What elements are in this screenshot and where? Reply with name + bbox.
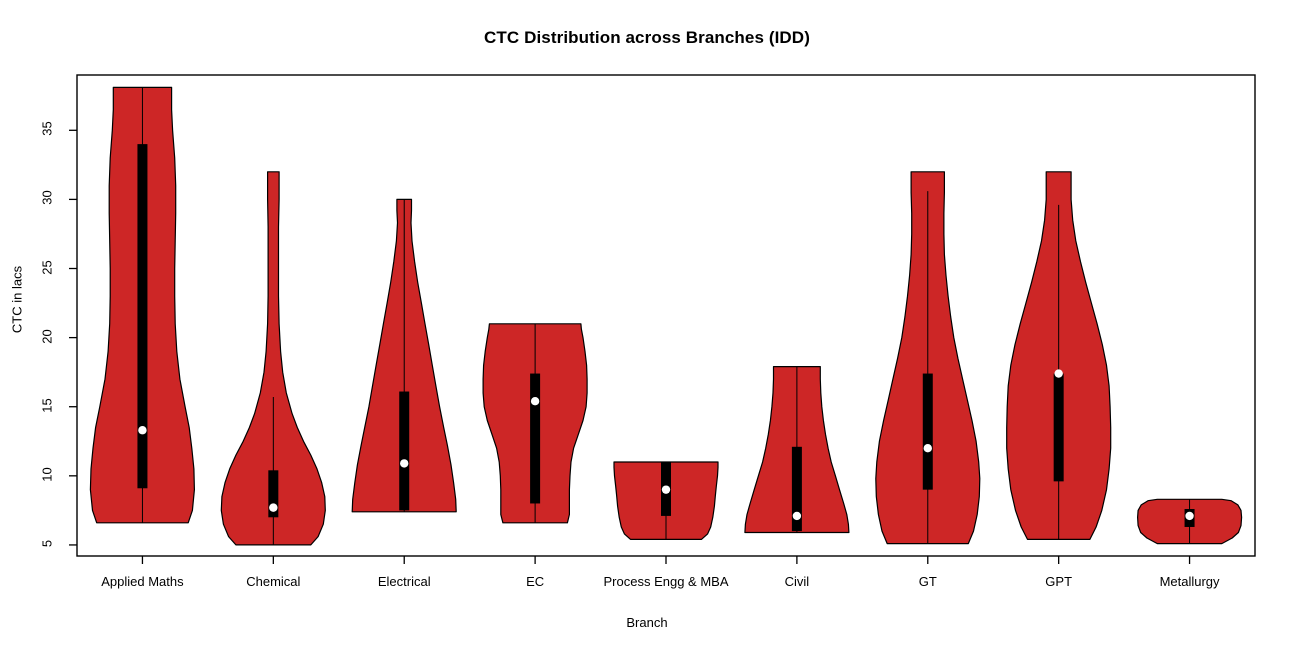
iqr-box (137, 144, 147, 488)
violin-ec (483, 324, 587, 523)
x-axis-tick-label: Chemical (246, 574, 300, 589)
x-axis-tick-label: GPT (1045, 574, 1072, 589)
iqr-box (399, 392, 409, 511)
violin-civil (745, 367, 849, 533)
median-point (1185, 512, 1193, 520)
x-axis-tick-label: EC (526, 574, 544, 589)
iqr-box (1054, 374, 1064, 482)
violin-applied-maths (90, 87, 194, 522)
x-axis-tick-label: Electrical (378, 574, 431, 589)
violin-gt (876, 172, 980, 544)
y-axis-tick-label: 25 (40, 247, 55, 287)
y-axis-tick-label: 35 (40, 109, 55, 149)
y-axis-tick-label: 10 (40, 454, 55, 494)
iqr-box (923, 374, 933, 490)
violin-chemical (221, 172, 325, 545)
y-axis-tick-label: 5 (40, 523, 55, 563)
median-point (1054, 369, 1062, 377)
plot-canvas (0, 0, 1294, 653)
median-point (138, 426, 146, 434)
violin-electrical (352, 199, 456, 511)
x-axis-tick-label: GT (919, 574, 937, 589)
violin-plot-figure: CTC Distribution across Branches (IDD) C… (0, 0, 1294, 653)
y-axis-tick-label: 20 (40, 316, 55, 356)
x-axis-tick-label: Applied Maths (101, 574, 183, 589)
median-point (531, 397, 539, 405)
median-point (400, 459, 408, 467)
median-point (662, 485, 670, 493)
y-axis-tick-label: 30 (40, 178, 55, 218)
violin-metallurgy (1138, 499, 1242, 543)
median-point (269, 503, 277, 511)
violin-process-engg-mba (614, 462, 718, 539)
x-axis-tick-label: Metallurgy (1160, 574, 1220, 589)
iqr-box (530, 374, 540, 504)
y-axis-tick-label: 15 (40, 385, 55, 425)
violin-gpt (1007, 172, 1111, 540)
x-axis-tick-label: Civil (785, 574, 810, 589)
median-point (924, 444, 932, 452)
x-axis-tick-label: Process Engg & MBA (604, 574, 729, 589)
median-point (793, 512, 801, 520)
